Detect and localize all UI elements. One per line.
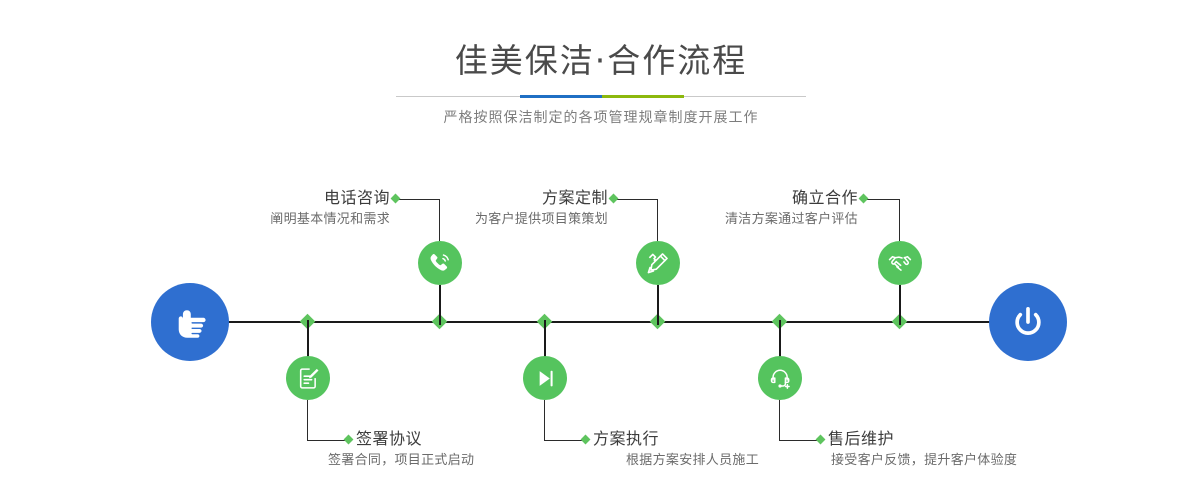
node-bottom-3[interactable]: [758, 356, 802, 400]
page-title: 佳美保洁·合作流程: [0, 0, 1202, 77]
label-bottom-1-desc: 签署合同，项目正式启动: [328, 452, 636, 470]
stem-bottom-1: [307, 320, 309, 358]
node-top-3[interactable]: [878, 241, 922, 285]
label-top-1: 电话咨询 阐明基本情况和需求: [150, 188, 390, 229]
stem-bottom-3: [779, 320, 781, 358]
header: 佳美保洁·合作流程: [0, 0, 1202, 77]
divider-blue-segment: [520, 95, 602, 98]
label-diamond-top-3: [859, 194, 869, 204]
headset-add-icon: [768, 366, 793, 391]
label-top-3: 确立合作 清洁方案通过客户评估: [618, 188, 858, 229]
stem-top-3: [899, 285, 901, 325]
stem-top-1: [439, 285, 441, 325]
label-top-2: 方案定制 为客户提供项目策策划: [368, 188, 608, 229]
label-top-1-title: 电话咨询: [150, 188, 390, 208]
stem-bottom-2: [544, 320, 546, 358]
elbow-v-bottom-3: [779, 400, 780, 440]
timeline-axis: [224, 321, 996, 323]
power-button-icon: [1007, 301, 1049, 343]
elbow-v-top-3: [899, 199, 900, 241]
flow-end-endcap: [989, 283, 1067, 361]
divider-green-segment: [602, 95, 684, 98]
stem-top-2: [657, 285, 659, 325]
flow-start-endcap: [151, 283, 229, 361]
label-top-3-title: 确立合作: [618, 188, 858, 208]
label-bottom-3: 售后维护 接受客户反馈，提升客户体验度: [828, 429, 1128, 470]
process-flow-infographic: 佳美保洁·合作流程 严格按照保洁制定的各项管理规章制度开展工作: [0, 0, 1202, 502]
label-top-2-title: 方案定制: [368, 188, 608, 208]
label-diamond-bottom-1: [344, 435, 354, 445]
elbow-h-bottom-1: [307, 440, 347, 441]
phone-call-icon: [427, 250, 453, 276]
node-bottom-1[interactable]: [286, 356, 330, 400]
node-top-1[interactable]: [418, 241, 462, 285]
node-bottom-2[interactable]: [523, 356, 567, 400]
elbow-v-bottom-1: [307, 400, 308, 440]
pencil-ruler-icon: [645, 250, 671, 276]
label-top-2-desc: 为客户提供项目策策划: [368, 211, 608, 229]
handshake-icon: [887, 250, 913, 276]
elbow-h-bottom-3: [779, 440, 819, 441]
node-top-2[interactable]: [636, 241, 680, 285]
page-subtitle: 严格按照保洁制定的各项管理规章制度开展工作: [0, 107, 1202, 127]
label-diamond-top-2: [609, 194, 619, 204]
elbow-h-top-3: [864, 199, 900, 200]
title-divider: [396, 95, 806, 98]
elbow-v-bottom-2: [544, 400, 545, 440]
document-pen-icon: [296, 366, 321, 391]
pointing-hand-icon: [169, 301, 211, 343]
elbow-h-bottom-2: [544, 440, 584, 441]
play-skip-icon: [533, 366, 558, 391]
label-bottom-3-desc: 接受客户反馈，提升客户体验度: [831, 452, 1128, 470]
label-top-1-desc: 阐明基本情况和需求: [150, 211, 390, 229]
label-bottom-3-title: 售后维护: [828, 429, 1128, 449]
label-top-3-desc: 清洁方案通过客户评估: [618, 211, 858, 229]
